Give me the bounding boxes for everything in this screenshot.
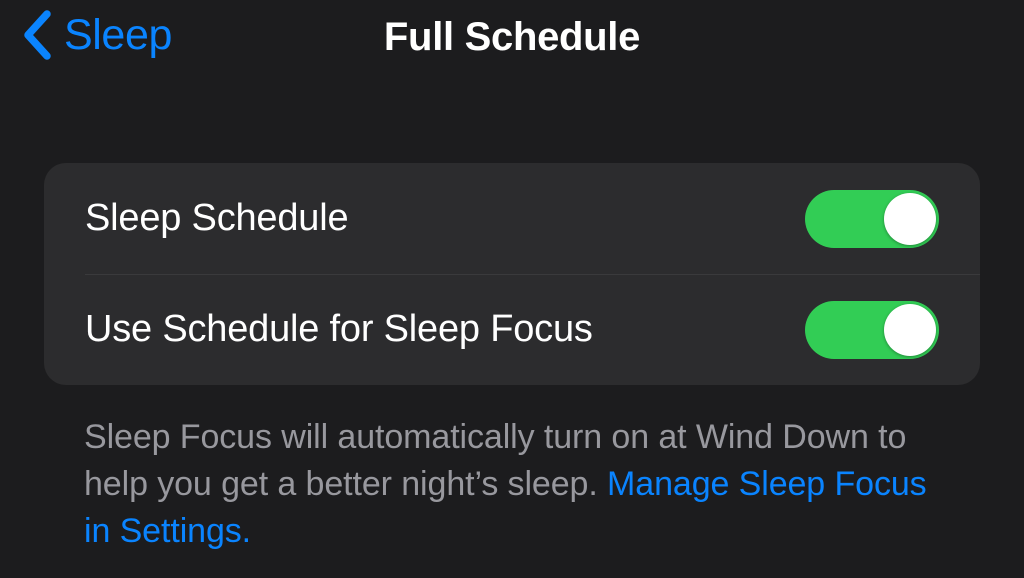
sleep-schedule-toggle[interactable] bbox=[805, 190, 939, 248]
use-schedule-for-sleep-focus-toggle[interactable] bbox=[805, 301, 939, 359]
toggle-knob bbox=[884, 304, 936, 356]
navigation-bar: Sleep Full Schedule bbox=[0, 0, 1024, 82]
setting-label: Use Schedule for Sleep Focus bbox=[85, 308, 805, 351]
setting-label: Sleep Schedule bbox=[85, 197, 805, 240]
settings-card: Sleep Schedule Use Schedule for Sleep Fo… bbox=[44, 163, 980, 385]
setting-row-use-schedule-for-sleep-focus[interactable]: Use Schedule for Sleep Focus bbox=[44, 274, 980, 385]
page-title: Full Schedule bbox=[0, 15, 1024, 60]
toggle-knob bbox=[884, 193, 936, 245]
setting-row-sleep-schedule[interactable]: Sleep Schedule bbox=[44, 163, 980, 274]
footer-description: Sleep Focus will automatically turn on a… bbox=[84, 414, 930, 555]
